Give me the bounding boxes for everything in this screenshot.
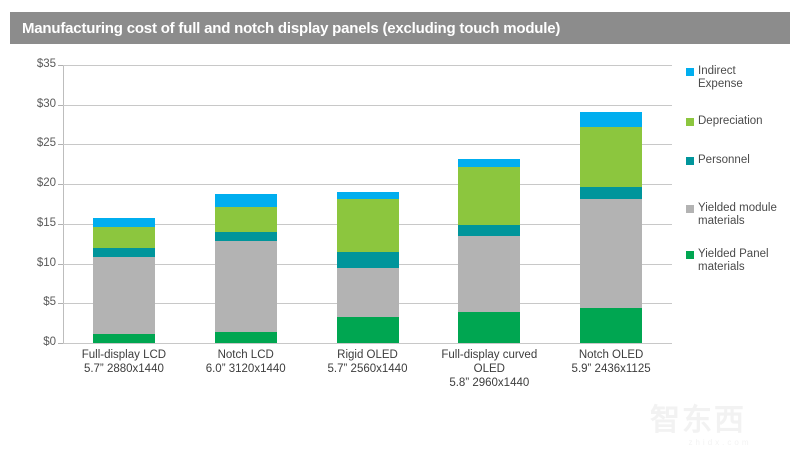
y-axis-tick-label: $5: [12, 296, 56, 308]
bar-segment[interactable]: [337, 192, 399, 199]
legend-swatch: [686, 157, 694, 165]
bar-segment[interactable]: [337, 268, 399, 317]
x-axis-tick-label: Notch OLED5.9” 2436x1125: [541, 348, 681, 376]
y-axis-tick: [58, 105, 63, 106]
bar-segment[interactable]: [580, 112, 642, 127]
bar-stack[interactable]: [458, 159, 520, 343]
plot-area: [63, 65, 672, 343]
x-axis-label-line: 5.7” 2560x1440: [298, 362, 438, 376]
x-axis-labels: Full-display LCD5.7” 2880x1440Notch LCD6…: [63, 348, 672, 424]
legend-label: IndirectExpense: [698, 65, 743, 91]
bar-segment[interactable]: [215, 232, 277, 241]
bar-segment[interactable]: [458, 167, 520, 224]
bar-segment[interactable]: [93, 227, 155, 248]
y-axis-tick: [58, 144, 63, 145]
x-axis-tick-label: Full-display LCD5.7” 2880x1440: [54, 348, 194, 376]
legend-swatch: [686, 118, 694, 126]
x-axis-label-line: 5.9” 2436x1125: [541, 362, 681, 376]
y-axis-tick-label: $15: [12, 217, 56, 229]
bar-stack[interactable]: [93, 218, 155, 343]
bar-segment[interactable]: [215, 241, 277, 332]
x-axis-label-line: OLED: [419, 362, 559, 376]
gridline: [63, 343, 672, 344]
chart-canvas: $0$5$10$15$20$25$30$35 Full-display LCD5…: [0, 46, 800, 425]
y-axis-tick-label: $10: [12, 257, 56, 269]
y-axis-tick-label: $35: [12, 58, 56, 70]
x-axis-label-line: Full-display curved: [419, 348, 559, 362]
bar-stack[interactable]: [337, 192, 399, 343]
page-title: Manufacturing cost of full and notch dis…: [22, 20, 560, 37]
y-axis-tick: [58, 224, 63, 225]
legend-item[interactable]: Yielded modulematerials: [686, 202, 777, 228]
bar-segment[interactable]: [458, 225, 520, 236]
bar-segment[interactable]: [337, 317, 399, 343]
bar-stack[interactable]: [580, 112, 642, 343]
y-axis-tick: [58, 65, 63, 66]
bar-segment[interactable]: [215, 194, 277, 208]
bar-segment[interactable]: [215, 332, 277, 343]
legend-swatch: [686, 251, 694, 259]
y-axis-tick: [58, 303, 63, 304]
bar-segment[interactable]: [580, 187, 642, 199]
x-axis-label-line: Rigid OLED: [298, 348, 438, 362]
y-axis-line: [63, 65, 64, 343]
y-axis-tick: [58, 184, 63, 185]
x-axis-label-line: Notch LCD: [176, 348, 316, 362]
gridline: [63, 105, 672, 106]
bar-segment[interactable]: [93, 257, 155, 334]
bar-segment[interactable]: [337, 199, 399, 252]
x-axis-tick-label: Notch LCD6.0” 3120x1440: [176, 348, 316, 376]
legend-item[interactable]: Depreciation: [686, 115, 763, 128]
legend-item[interactable]: Yielded Panelmaterials: [686, 248, 769, 274]
x-axis-label-line: 5.8” 2960x1440: [419, 376, 559, 390]
x-axis-label-line: 5.7” 2880x1440: [54, 362, 194, 376]
bar-segment[interactable]: [337, 252, 399, 267]
bar-segment[interactable]: [458, 236, 520, 312]
x-axis-tick-label: Full-display curvedOLED5.8” 2960x1440: [419, 348, 559, 390]
bar-segment[interactable]: [93, 334, 155, 343]
bar-segment[interactable]: [93, 218, 155, 227]
x-axis-tick-label: Rigid OLED5.7” 2560x1440: [298, 348, 438, 376]
y-axis-tick: [58, 343, 63, 344]
chart-title-bar: Manufacturing cost of full and notch dis…: [10, 12, 790, 44]
bar-segment[interactable]: [580, 199, 642, 308]
gridline: [63, 65, 672, 66]
legend-item[interactable]: IndirectExpense: [686, 65, 743, 91]
y-axis-tick-label: $30: [12, 98, 56, 110]
y-axis-tick-label: $25: [12, 137, 56, 149]
bar-stack[interactable]: [215, 194, 277, 343]
bar-segment[interactable]: [215, 207, 277, 232]
legend-label: Depreciation: [698, 115, 763, 128]
y-axis-labels: $0$5$10$15$20$25$30$35: [0, 65, 56, 343]
legend-label: Yielded modulematerials: [698, 202, 777, 228]
bar-segment[interactable]: [580, 127, 642, 187]
bar-segment[interactable]: [458, 159, 520, 168]
x-axis-label-line: Notch OLED: [541, 348, 681, 362]
y-axis-tick-label: $0: [12, 336, 56, 348]
x-axis-label-line: Full-display LCD: [54, 348, 194, 362]
bar-segment[interactable]: [93, 248, 155, 258]
y-axis-tick-label: $20: [12, 177, 56, 189]
legend-label: Yielded Panelmaterials: [698, 248, 769, 274]
y-axis-tick: [58, 264, 63, 265]
bar-segment[interactable]: [458, 312, 520, 343]
legend-item[interactable]: Personnel: [686, 154, 750, 167]
watermark-en: zhidx.com: [650, 438, 790, 447]
bar-segment[interactable]: [580, 308, 642, 343]
legend-label: Personnel: [698, 154, 750, 167]
legend-swatch: [686, 205, 694, 213]
legend-swatch: [686, 68, 694, 76]
x-axis-label-line: 6.0” 3120x1440: [176, 362, 316, 376]
